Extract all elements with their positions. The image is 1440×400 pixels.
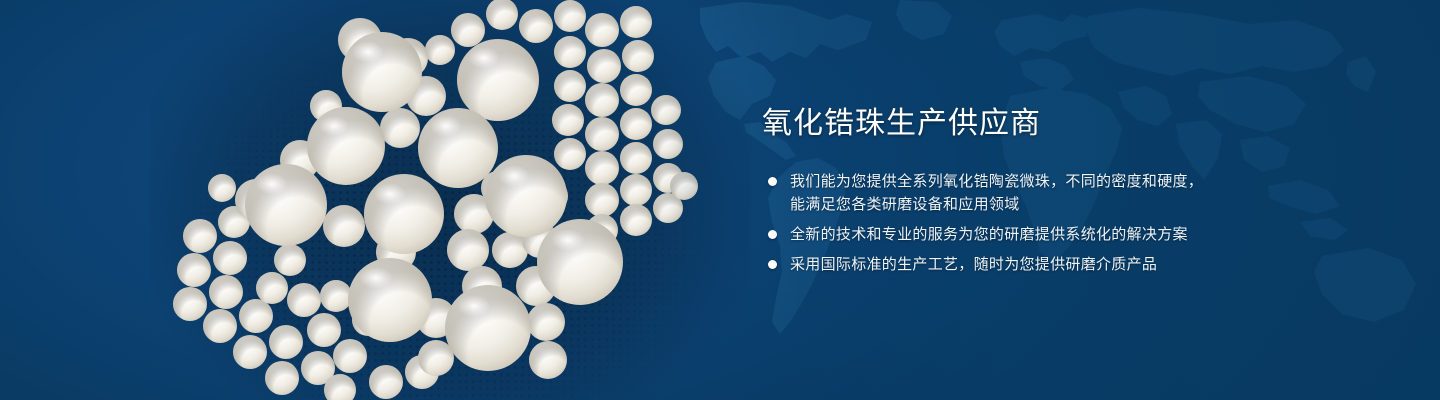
list-item: 采用国际标准的生产工艺，随时为您提供研磨介质产品	[762, 253, 1382, 276]
list-item-line1: 全新的技术和专业的服务为您的研磨提供系统化的解决方案	[790, 226, 1188, 243]
list-item: 全新的技术和专业的服务为您的研磨提供系统化的解决方案	[762, 223, 1382, 246]
list-item-line1: 采用国际标准的生产工艺，随时为您提供研磨介质产品	[790, 256, 1157, 273]
list-item-line1: 我们能为您提供全系列氧化锆陶瓷微珠，不同的密度和硬度，	[790, 173, 1203, 190]
bullet-dot-icon	[768, 177, 777, 186]
list-item: 我们能为您提供全系列氧化锆陶瓷微珠，不同的密度和硬度， 能满足您各类研磨设备和应…	[762, 170, 1382, 216]
banner-copy: 氧化锆珠生产供应商 我们能为您提供全系列氧化锆陶瓷微珠，不同的密度和硬度， 能满…	[762, 104, 1382, 276]
hero-banner: 氧化锆珠生产供应商 我们能为您提供全系列氧化锆陶瓷微珠，不同的密度和硬度， 能满…	[0, 0, 1440, 400]
page-title: 氧化锆珠生产供应商	[762, 104, 1382, 144]
bullet-dot-icon	[768, 230, 777, 239]
zirconia-bead-cluster-image	[150, 0, 730, 400]
bullet-dot-icon	[768, 260, 777, 269]
list-item-line2: 能满足您各类研磨设备和应用领域	[790, 193, 1382, 216]
feature-list: 我们能为您提供全系列氧化锆陶瓷微珠，不同的密度和硬度， 能满足您各类研磨设备和应…	[762, 170, 1382, 276]
